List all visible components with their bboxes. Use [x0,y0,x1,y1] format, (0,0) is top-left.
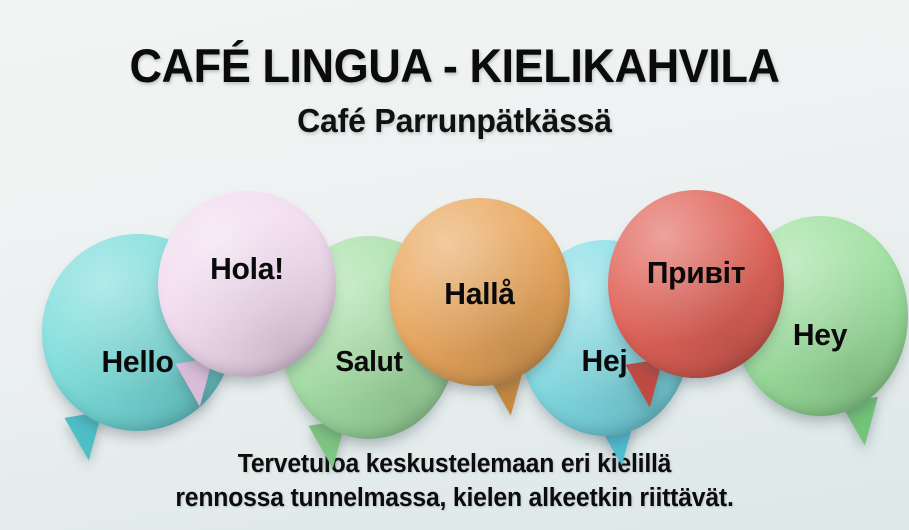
poster-footer: Tervetuloa keskustelemaan eri kielillä r… [14,448,896,516]
footer-line-1: Tervetuloa keskustelemaan eri kielillä [14,448,896,482]
bubble-label-spanish: Hola! [161,251,334,287]
speech-bubble-spanish: Hola! [158,191,336,377]
page-title: CAFÉ LINGUA - KIELIKAHVILA [18,42,891,90]
bubble-label-ukrainian: Привіт [611,255,782,291]
poster-header: CAFÉ LINGUA - KIELIKAHVILA Café Parrunpä… [0,0,909,139]
speech-bubble-swedish: Hallå [389,198,570,386]
speech-bubble-group: HelloHola!SalutHallåHejПривітHey [0,186,909,422]
bubble-label-swedish: Hallå [392,276,568,312]
footer-line-2: rennossa tunnelmassa, kielen alkeetkin r… [14,482,896,516]
speech-bubble-ukrainian: Привіт [608,190,784,378]
page-subtitle: Café Parrunpätkässä [14,104,896,139]
